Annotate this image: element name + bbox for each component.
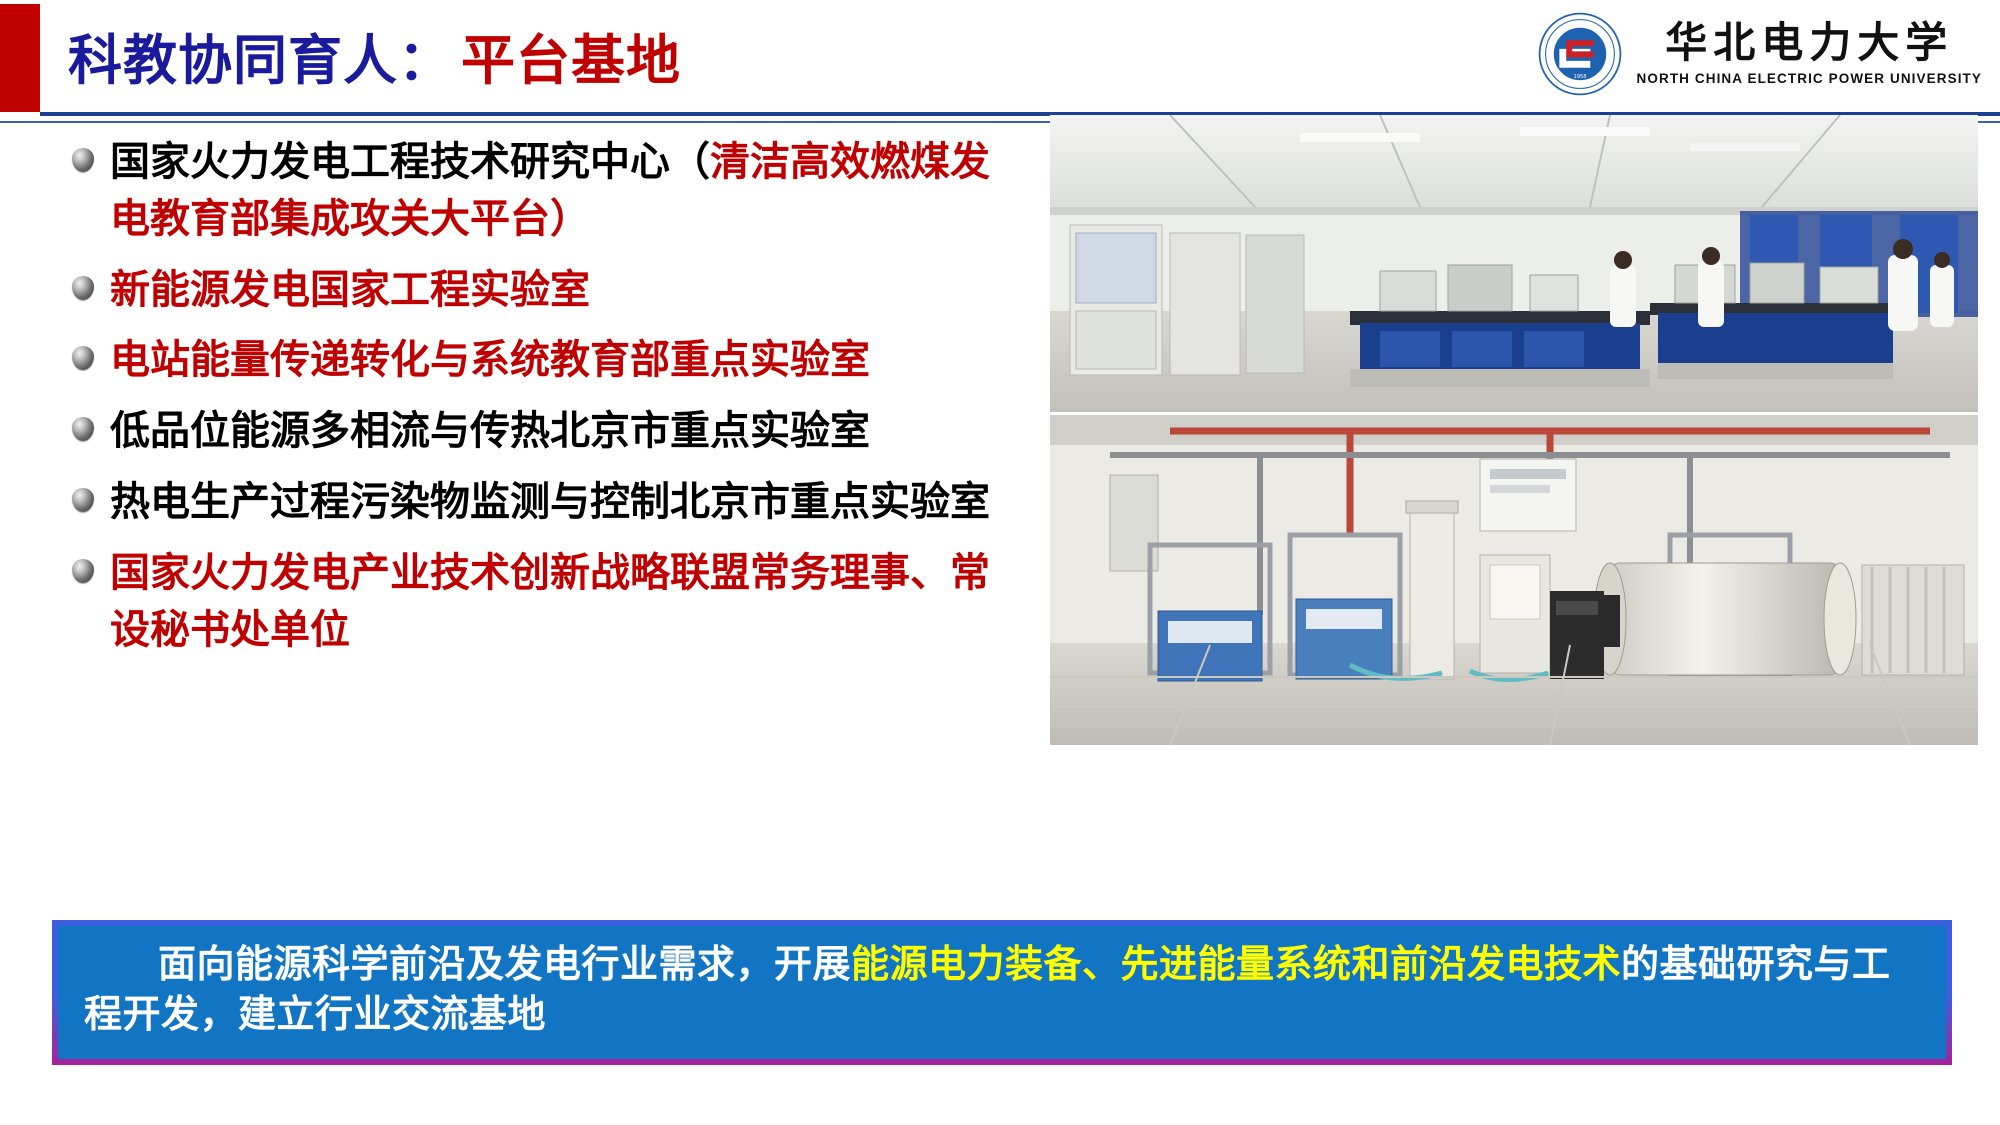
bullet-marker-icon [72, 417, 94, 441]
list-item-segment-highlight: 新能源发电国家工程实验室 [110, 268, 590, 312]
banner-segment: 面向能源科学前沿及发电行业需求，开展 [158, 944, 851, 986]
list-item-text: 热电生产过程污染物监测与控制北京市重点实验室 [110, 474, 990, 531]
list-item: 热电生产过程污染物监测与控制北京市重点实验室 [72, 474, 1012, 531]
list-item: 低品位能源多相流与传热北京市重点实验室 [72, 403, 1012, 460]
list-item-segment-highlight: 电站能量传递转化与系统教育部重点实验室 [110, 338, 870, 382]
platform-base-list: 国家火力发电工程技术研究中心（清洁高效燃煤发电教育部集成攻关大平台） 新能源发电… [72, 134, 1012, 672]
university-name-en: NORTH CHINA ELECTRIC POWER UNIVERSITY [1637, 72, 1982, 86]
page-title-primary: 科教协同育人： [68, 16, 453, 95]
list-item-segment: 国家火力发电工程技术研究中心（ [110, 140, 710, 184]
bullet-marker-icon [72, 346, 94, 370]
slide-header: 科教协同育人： 平台基地 1958 华北电力大学 NORTH CHINA ELE… [0, 0, 2000, 116]
laboratory-bench-room-photo [1050, 115, 1978, 412]
summary-banner-inner: 面向能源科学前沿及发电行业需求，开展能源电力装备、先进能量系统和前沿发电技术的基… [58, 926, 1946, 1059]
university-logo: 1958 华北电力大学 NORTH CHINA ELECTRIC POWER U… [1537, 8, 1982, 100]
header-red-accent-bar [0, 4, 40, 112]
list-item: 电站能量传递转化与系统教育部重点实验室 [72, 332, 1012, 389]
list-item: 新能源发电国家工程实验室 [72, 262, 1012, 319]
university-name-cn: 华北电力大学 [1665, 22, 1953, 64]
summary-banner-text: 面向能源科学前沿及发电行业需求，开展能源电力装备、先进能量系统和前沿发电技术的基… [84, 940, 1920, 1040]
list-item-segment: 低品位能源多相流与传热北京市重点实验室 [110, 409, 870, 453]
list-item: 国家火力发电工程技术研究中心（清洁高效燃煤发电教育部集成攻关大平台） [72, 134, 1012, 248]
university-wordmark: 华北电力大学 NORTH CHINA ELECTRIC POWER UNIVER… [1637, 22, 1982, 86]
bullet-marker-icon [72, 276, 94, 300]
university-crest-icon: 1958 [1537, 11, 1623, 97]
list-item-segment-highlight: 国家火力发电产业技术创新战略联盟常务理事、常设秘书处单位 [110, 551, 990, 652]
list-item-text: 电站能量传递转化与系统教育部重点实验室 [110, 332, 870, 389]
list-item-text: 低品位能源多相流与传热北京市重点实验室 [110, 403, 870, 460]
bullet-marker-icon [72, 559, 94, 583]
bullet-marker-icon [72, 148, 94, 172]
bullet-marker-icon [72, 488, 94, 512]
page-title-highlight: 平台基地 [461, 16, 681, 95]
summary-banner: 面向能源科学前沿及发电行业需求，开展能源电力装备、先进能量系统和前沿发电技术的基… [52, 920, 1952, 1065]
list-item-text: 新能源发电国家工程实验室 [110, 262, 590, 319]
banner-segment-highlight: 能源电力装备、先进能量系统和前沿发电技术 [851, 944, 1621, 986]
list-item-text: 国家火力发电工程技术研究中心（清洁高效燃煤发电教育部集成攻关大平台） [110, 134, 1012, 248]
svg-text:1958: 1958 [1573, 74, 1586, 80]
list-item: 国家火力发电产业技术创新战略联盟常务理事、常设秘书处单位 [72, 545, 1012, 659]
list-item-text: 国家火力发电产业技术创新战略联盟常务理事、常设秘书处单位 [110, 545, 1012, 659]
pilot-plant-equipment-photo [1050, 415, 1978, 745]
list-item-segment: 热电生产过程污染物监测与控制北京市重点实验室 [110, 480, 990, 524]
page-title: 科教协同育人： 平台基地 [68, 12, 681, 98]
